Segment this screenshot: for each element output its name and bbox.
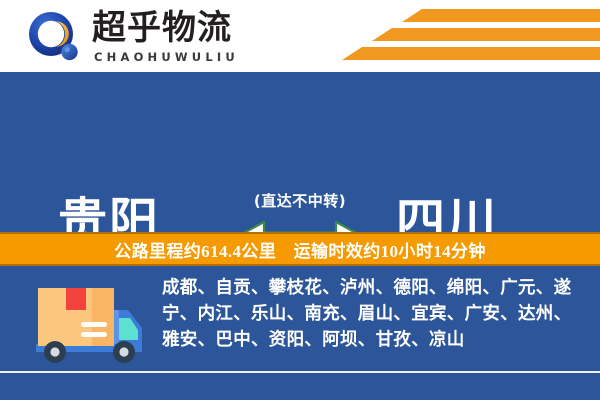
brand-name-en: CHAOHUWULIU [94, 50, 239, 64]
brand-name-cn: 超乎物流 [92, 8, 232, 48]
coverage-section: 成都、自贡、攀枝花、泸州、德阳、绵阳、广元、遂宁、内江、乐山、南充、眉山、宜宾、… [0, 266, 600, 400]
bottom-divider [0, 371, 600, 373]
stripe-2 [372, 28, 600, 41]
route-info-text: 公路里程约614.4公里 运输时效约10小时14分钟 [114, 237, 486, 262]
logistics-route-poster: 超乎物流 CHAOHUWULIU 贵阳 (直达不中转) 【往返运输】 四川 公路… [0, 0, 600, 400]
delivery-truck-icon [24, 276, 150, 370]
route-info-bar: 公路里程约614.4公里 运输时效约10小时14分钟 [0, 232, 600, 266]
header: 超乎物流 CHAOHUWULIU [0, 0, 600, 72]
brand-logo[interactable]: 超乎物流 CHAOHUWULIU [22, 6, 272, 68]
stripe-3 [342, 47, 600, 60]
coverage-city-list: 成都、自贡、攀枝花、泸州、德阳、绵阳、广元、遂宁、内江、乐山、南充、眉山、宜宾、… [162, 274, 582, 352]
route-hero: 贵阳 (直达不中转) 【往返运输】 四川 [0, 72, 600, 232]
stripe-1 [402, 9, 600, 22]
decorative-stripes [340, 8, 600, 64]
circle-q-logo-icon [26, 10, 82, 66]
